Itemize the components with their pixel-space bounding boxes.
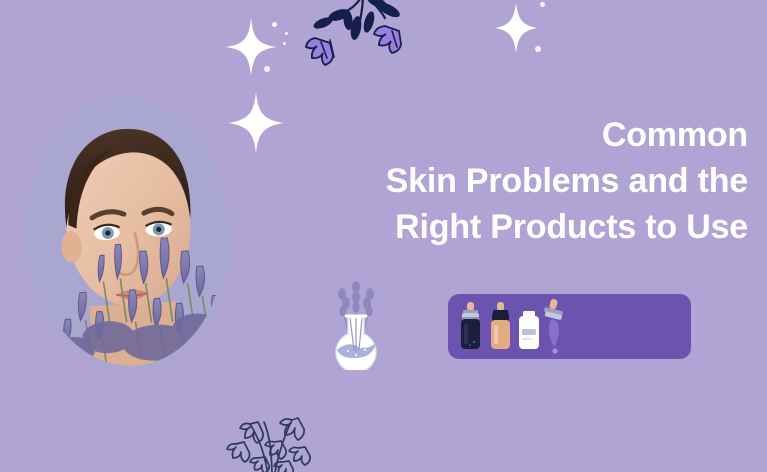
lavender-flask-icon (310, 278, 402, 370)
product-row (457, 297, 577, 357)
sparkle-dot (272, 22, 277, 27)
white-cream-jar (519, 311, 539, 349)
skincare-products-panel (448, 294, 691, 359)
sparkle-top-right-icon (495, 3, 537, 53)
purple-pipette-dropper (544, 298, 564, 353)
sparkle-dot (264, 66, 270, 72)
top-lavender-branch-decoration (293, 0, 413, 77)
sparkle-dot (535, 46, 541, 52)
title-line-2: Skin Problems and the (288, 158, 748, 204)
page-title: Common Skin Problems and the Right Produ… (288, 112, 748, 250)
beige-dropper-bottle (491, 302, 510, 349)
title-line-1: Common (288, 112, 748, 158)
bottom-lavender-sprig-decoration (212, 382, 332, 472)
portrait-photo-oval (25, 96, 230, 371)
skincare-banner: Common Skin Problems and the Right Produ… (0, 0, 767, 472)
dark-dropper-bottle (461, 302, 480, 349)
sparkle-large-lower-left-icon (228, 92, 284, 154)
sparkle-dot (285, 32, 288, 35)
sparkle-dot (283, 42, 286, 45)
title-line-3: Right Products to Use (288, 204, 748, 250)
sparkle-dot (540, 2, 545, 7)
